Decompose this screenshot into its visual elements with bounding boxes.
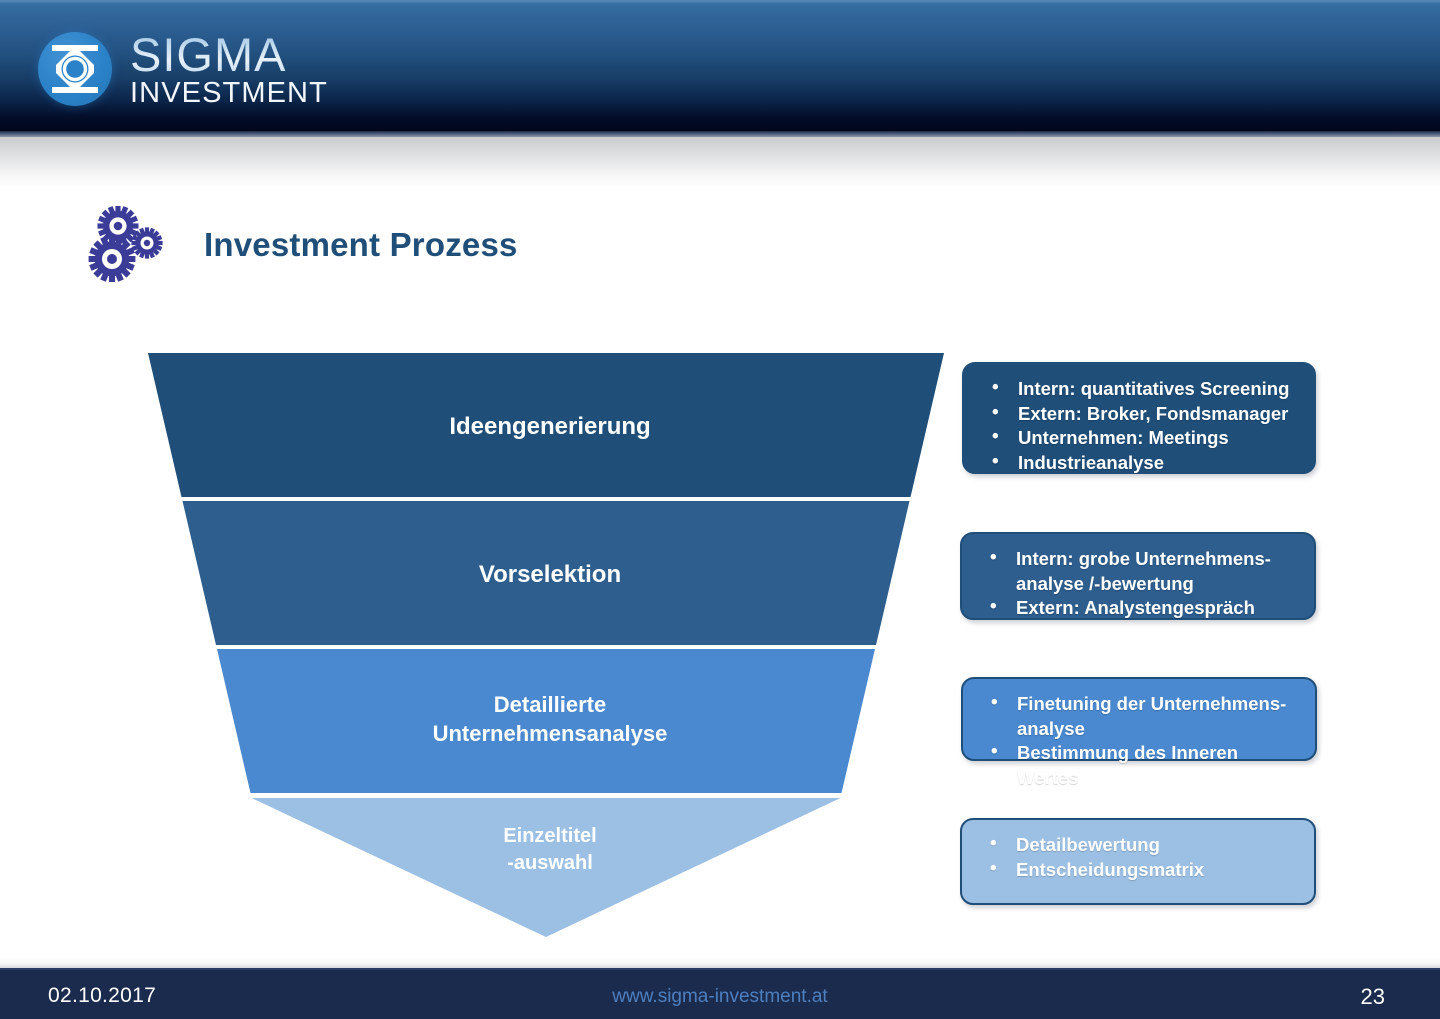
callout-list-2: Intern: grobe Unternehmens- analyse /-be… bbox=[988, 547, 1298, 621]
list-item-text: Extern: Broker, Fondsmanager bbox=[1018, 403, 1288, 424]
list-item-text: Intern: grobe Unternehmens- bbox=[1016, 548, 1271, 569]
footer-bar: 02.10.2017 www.sigma-investment.at 23 bbox=[0, 968, 1440, 1019]
page-title: Investment Prozess bbox=[204, 226, 518, 264]
list-item-text: Industrieanalyse bbox=[1018, 452, 1164, 473]
sigma-circle-logo-icon bbox=[38, 32, 112, 106]
slide-canvas: SIGMA INVESTMENT bbox=[0, 0, 1440, 1019]
list-item-text: Bestimmung des Inneren Wertes bbox=[1017, 742, 1238, 788]
list-item: Unternehmen: Meetings bbox=[990, 426, 1298, 451]
header-top-highlight bbox=[0, 0, 1440, 3]
callout-list-4: Detailbewertung Entscheidungsmatrix bbox=[988, 833, 1298, 882]
brand-logo[interactable]: SIGMA INVESTMENT bbox=[38, 30, 328, 112]
funnel-stage-1 bbox=[148, 353, 944, 497]
list-item: Detailbewertung bbox=[988, 833, 1298, 858]
list-item-text-cont: analyse /-bewertung bbox=[1016, 572, 1298, 597]
list-item: Bestimmung des Inneren Wertes bbox=[989, 741, 1299, 790]
list-item: Industrieanalyse bbox=[990, 451, 1298, 476]
title-row: Investment Prozess bbox=[88, 206, 788, 288]
footer-url-link[interactable]: www.sigma-investment.at bbox=[0, 986, 1440, 1008]
list-item: Entscheidungsmatrix bbox=[988, 858, 1298, 883]
list-item: Extern: Analystengespräch bbox=[988, 596, 1298, 621]
brand-name-secondary: INVESTMENT bbox=[130, 78, 350, 109]
funnel-stage-4 bbox=[252, 798, 841, 937]
brand-name-primary: SIGMA bbox=[130, 30, 350, 80]
header-bar: SIGMA INVESTMENT bbox=[0, 0, 1440, 131]
list-item: Extern: Broker, Fondsmanager bbox=[990, 402, 1298, 427]
brand-wordmark: SIGMA INVESTMENT bbox=[130, 30, 350, 110]
list-item: Intern: quantitatives Screening bbox=[990, 377, 1298, 402]
list-item-text: Intern: quantitatives Screening bbox=[1018, 378, 1289, 399]
footer-fade bbox=[0, 958, 1440, 968]
list-item-text: Detailbewertung bbox=[1016, 834, 1160, 855]
list-item: Intern: grobe Unternehmens- analyse /-be… bbox=[988, 547, 1298, 596]
callout-box-stage-4[interactable]: Detailbewertung Entscheidungsmatrix bbox=[960, 818, 1316, 905]
callout-box-stage-1[interactable]: Intern: quantitatives Screening Extern: … bbox=[962, 362, 1316, 474]
footer-page-number: 23 bbox=[1361, 984, 1385, 1010]
list-item: Finetuning der Unternehmens- analyse bbox=[989, 692, 1299, 741]
gears-icon bbox=[88, 206, 166, 282]
callout-box-stage-2[interactable]: Intern: grobe Unternehmens- analyse /-be… bbox=[960, 532, 1316, 620]
funnel-svg bbox=[140, 345, 960, 945]
callout-list-1: Intern: quantitatives Screening Extern: … bbox=[990, 377, 1298, 475]
list-item-text: Entscheidungsmatrix bbox=[1016, 859, 1204, 880]
callout-box-stage-3[interactable]: Finetuning der Unternehmens- analyse Bes… bbox=[961, 677, 1317, 761]
list-item-text: Finetuning der Unternehmens- bbox=[1017, 693, 1286, 714]
list-item-text: Unternehmen: Meetings bbox=[1018, 427, 1229, 448]
list-item-text-cont: analyse bbox=[1017, 717, 1299, 742]
funnel-stage-2 bbox=[183, 501, 910, 645]
header-fade-band bbox=[0, 137, 1440, 187]
funnel-diagram: Ideengenerierung Vorselektion Detaillier… bbox=[140, 345, 960, 945]
funnel-stage-3 bbox=[217, 649, 875, 793]
callout-list-3: Finetuning der Unternehmens- analyse Bes… bbox=[989, 692, 1299, 790]
list-item-text: Extern: Analystengespräch bbox=[1016, 597, 1255, 618]
